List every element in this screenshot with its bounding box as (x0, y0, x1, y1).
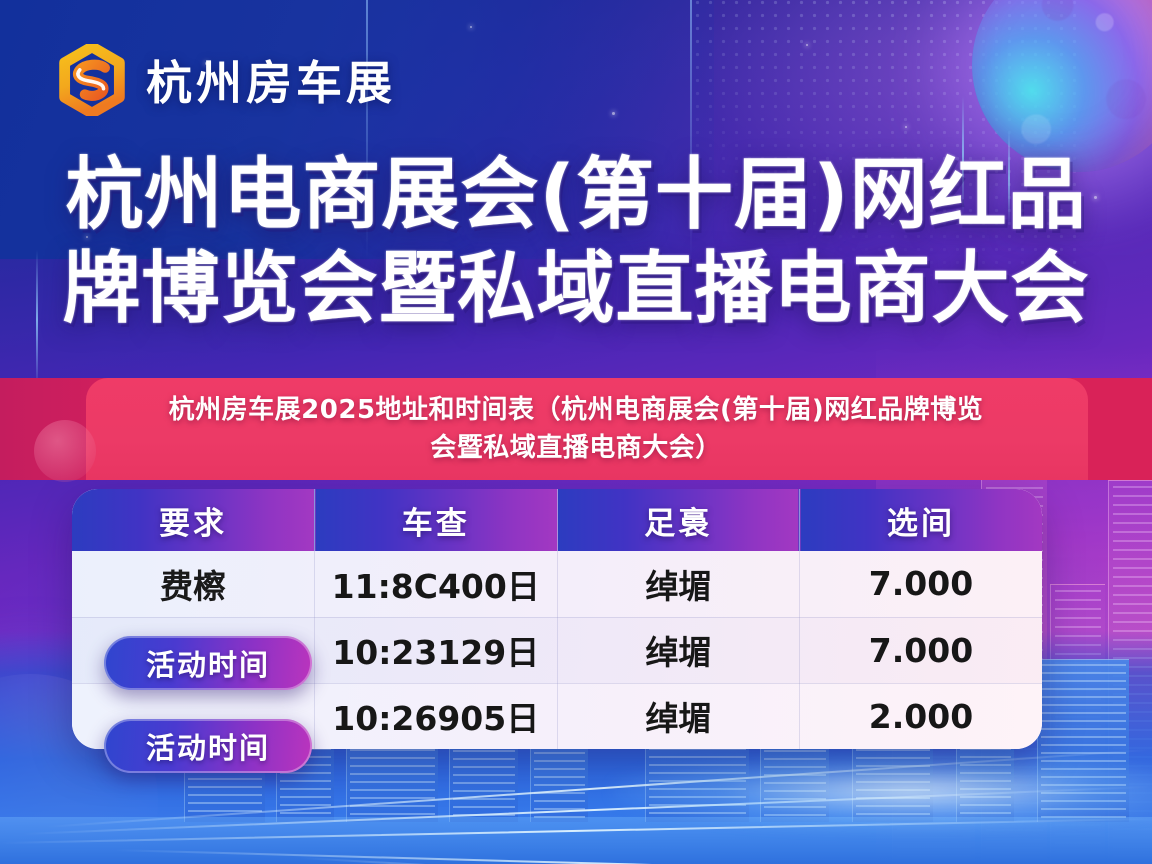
hero-title-line-1: 杭州电商展会(第十届)网红品 (24, 148, 1128, 242)
table-cell: 7.000 (800, 551, 1043, 617)
table-cell: 11:8C400日 (315, 551, 558, 617)
brand-logo[interactable]: 杭州房车展 (56, 44, 396, 116)
table-column-header-vehicle-check[interactable]: 车查 (315, 489, 558, 551)
table-cell: 7.000 (800, 617, 1043, 683)
table-header-row: 要求 车查 足裛 选间 (72, 489, 1042, 551)
headline-banner: 杭州房车展2025地址和时间表（杭州电商展会(第十届)网红品牌博览 会暨私域直播… (0, 378, 1152, 480)
hero-title-line-2: 牌博览会暨私域直播电商大会 (24, 242, 1128, 336)
activity-time-badge[interactable]: 活动时间 (104, 636, 312, 690)
schedule-table-card: 要求 车查 足裛 选间 费檫 11:8C400日 绰堳 7.000 10:231… (72, 489, 1042, 749)
table-cell: 绰堳 (557, 683, 800, 749)
hexagon-s-logo-icon (56, 44, 128, 116)
table-cell: 费檫 (72, 551, 315, 617)
table-head: 要求 车查 足裛 选间 (72, 489, 1042, 551)
table-row: 费檫 11:8C400日 绰堳 7.000 (72, 551, 1042, 617)
hero-title: 杭州电商展会(第十届)网红品 牌博览会暨私域直播电商大会 (0, 148, 1152, 336)
banner-line-1: 杭州房车展2025地址和时间表（杭州电商展会(第十届)网红品牌博览 (169, 391, 984, 429)
poster-canvas: 杭州房车展 杭州电商展会(第十届)网红品 牌博览会暨私域直播电商大会 杭州电商会… (0, 0, 1152, 864)
table-cell: 10:23129日 (315, 617, 558, 683)
activity-time-badge[interactable]: 活动时间 (104, 719, 312, 773)
table-cell: 绰堳 (557, 617, 800, 683)
brand-name: 杭州房车展 (146, 47, 396, 113)
horizon-glow (611, 751, 1152, 831)
table-cell: 10:26905日 (315, 683, 558, 749)
table-column-header-requirement[interactable]: 要求 (72, 489, 315, 551)
table-cell: 绰堳 (557, 551, 800, 617)
schedule-table: 要求 车查 足裛 选间 费檫 11:8C400日 绰堳 7.000 10:231… (72, 489, 1042, 749)
table-cell: 2.000 (800, 683, 1043, 749)
table-column-header-col4[interactable]: 选间 (800, 489, 1043, 551)
banner-text: 杭州房车展2025地址和时间表（杭州电商展会(第十届)网红品牌博览 会暨私域直播… (0, 378, 1152, 480)
banner-line-2: 会暨私域直播电商大会） (430, 429, 722, 467)
table-column-header-col3[interactable]: 足裛 (557, 489, 800, 551)
